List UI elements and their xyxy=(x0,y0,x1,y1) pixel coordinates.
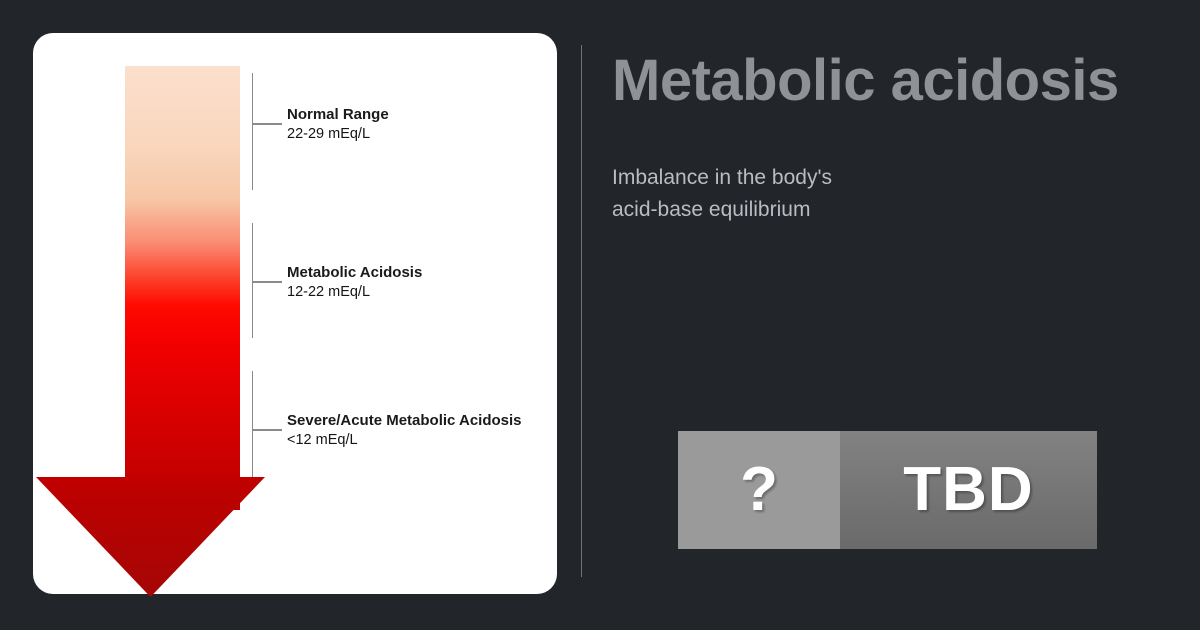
status-badge: ? TBD xyxy=(678,431,1097,549)
range-label-title: Severe/Acute Metabolic Acidosis xyxy=(287,411,522,430)
range-label-normal-range: Normal Range 22-29 mEq/L xyxy=(287,105,389,144)
status-badge-label-block: TBD xyxy=(840,431,1097,549)
status-badge-icon-block: ? xyxy=(678,431,840,549)
panel-divider xyxy=(581,45,582,577)
leader-line-severe-acute-metabolic-acidosis xyxy=(252,429,282,431)
bracket-line-normal-range xyxy=(252,73,253,190)
range-label-value: 22-29 mEq/L xyxy=(287,124,389,144)
leader-line-metabolic-acidosis xyxy=(252,281,282,283)
range-label-value: 12-22 mEq/L xyxy=(287,282,422,302)
range-label-metabolic-acidosis: Metabolic Acidosis 12-22 mEq/L xyxy=(287,263,422,302)
downward-arrow-head-icon xyxy=(36,477,265,597)
range-label-title: Normal Range xyxy=(287,105,389,124)
status-badge-label: TBD xyxy=(903,459,1033,521)
question-mark-icon: ? xyxy=(740,459,778,521)
page-title: Metabolic acidosis xyxy=(612,47,1119,115)
leader-line-normal-range xyxy=(252,123,282,125)
page-subtitle: Imbalance in the body's acid-base equili… xyxy=(612,162,832,226)
range-label-title: Metabolic Acidosis xyxy=(287,263,422,282)
range-label-severe-acute-metabolic-acidosis: Severe/Acute Metabolic Acidosis <12 mEq/… xyxy=(287,411,522,450)
infographic-canvas: Normal Range 22-29 mEq/L Metabolic Acido… xyxy=(0,0,1200,630)
range-label-value: <12 mEq/L xyxy=(287,430,522,450)
severity-gradient-bar xyxy=(125,66,240,510)
